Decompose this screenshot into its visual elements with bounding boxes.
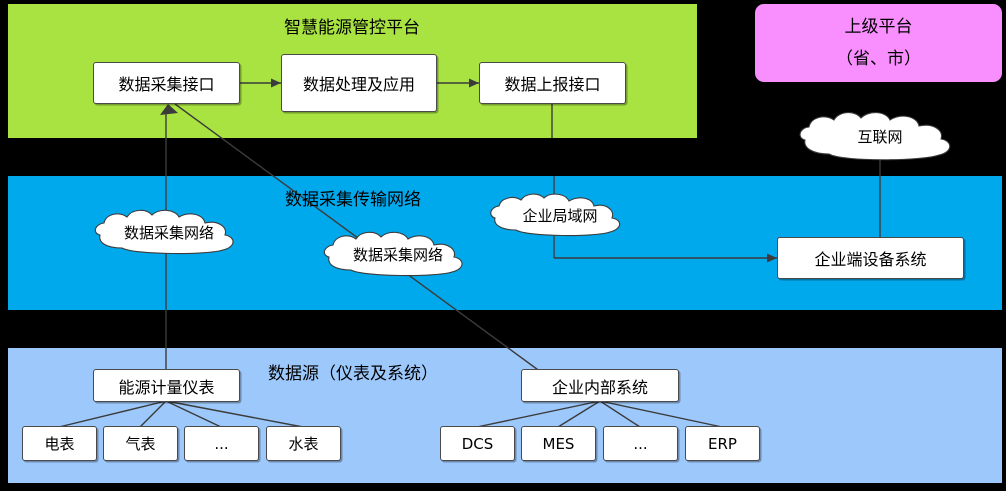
platform-band-title: 智慧能源管控平台: [284, 13, 420, 38]
node-system-more[interactable]: ...: [603, 426, 678, 461]
cloud-internet-label: 互联网: [791, 110, 969, 162]
node-meter-electricity[interactable]: 电表: [22, 426, 97, 461]
node-enterprise-internal-system[interactable]: 企业内部系统: [521, 369, 679, 402]
node-report-api[interactable]: 数据上报接口: [479, 62, 626, 104]
node-system-erp[interactable]: ERP: [685, 426, 760, 461]
node-meter-more[interactable]: ...: [184, 426, 259, 461]
cloud-internet[interactable]: 互联网: [791, 110, 969, 162]
cloud-enterprise-lan-label: 企业局域网: [484, 192, 636, 238]
node-meter-gas[interactable]: 气表: [103, 426, 178, 461]
node-collect-api[interactable]: 数据采集接口: [93, 62, 240, 104]
node-energy-meter-group[interactable]: 能源计量仪表: [93, 369, 240, 402]
node-meter-water[interactable]: 水表: [266, 426, 341, 461]
node-system-mes[interactable]: MES: [521, 426, 596, 461]
node-process-app[interactable]: 数据处理及应用: [281, 54, 437, 112]
node-enterprise-device-system[interactable]: 企业端设备系统: [777, 237, 964, 279]
network-band-title: 数据采集传输网络: [285, 185, 421, 210]
source-band-title: 数据源（仪表及系统）: [268, 359, 438, 384]
upper-platform-line2: （省、市）: [836, 43, 921, 75]
diagram-canvas: 智慧能源管控平台 数据采集接口 数据处理及应用 数据上报接口 上级平台 （省、市…: [0, 0, 1006, 491]
cloud-collect-net-left-label: 数据采集网络: [88, 208, 250, 256]
cloud-collect-net-mid-label: 数据采集网络: [317, 230, 479, 278]
upper-platform-box[interactable]: 上级平台 （省、市）: [755, 4, 1002, 82]
node-system-dcs[interactable]: DCS: [440, 426, 515, 461]
upper-platform-line1: 上级平台: [845, 11, 913, 43]
cloud-enterprise-lan[interactable]: 企业局域网: [484, 192, 636, 238]
cloud-collect-net-mid[interactable]: 数据采集网络: [317, 230, 479, 278]
cloud-collect-net-left[interactable]: 数据采集网络: [88, 208, 250, 256]
